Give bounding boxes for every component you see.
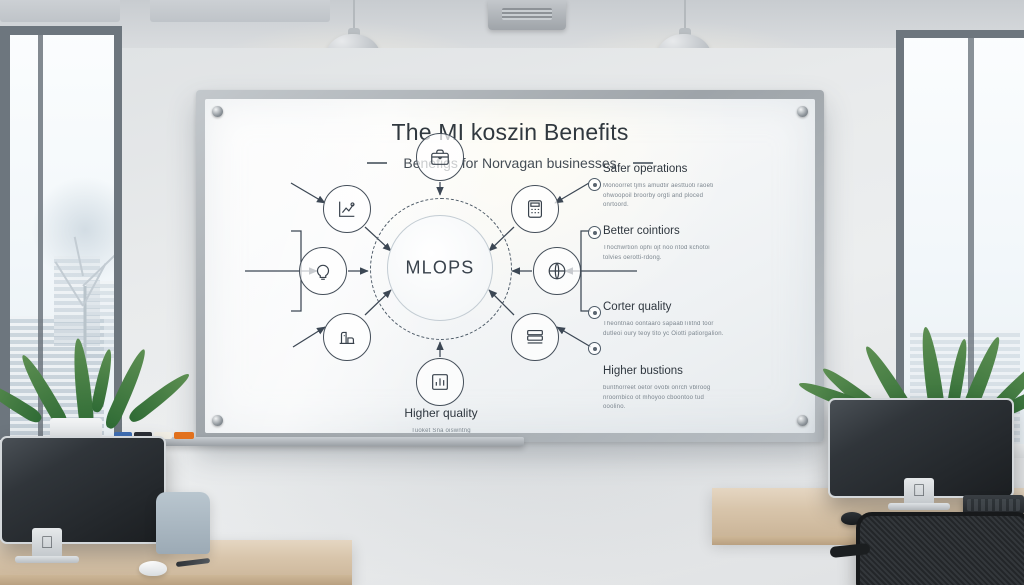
- briefcase-icon: [429, 146, 451, 168]
- gauge-icon: [336, 326, 358, 348]
- bullet-right-1: [588, 226, 601, 239]
- ceiling-panel-left: [0, 0, 120, 22]
- label-right-0: Safer operations Monoorret tjms amudtir …: [603, 163, 725, 216]
- growth-chart-icon: [336, 198, 358, 220]
- label-right-1-body: Thochwrtion ophi ojt noo ntod kchotoi to…: [603, 244, 725, 263]
- window-head-right: [896, 30, 1024, 38]
- apple-logo-left: : [41, 534, 54, 551]
- label-bottom: Higher quality Tuoket Sna oiswntng: [379, 407, 503, 433]
- label-right-2: Corter quality Theontnao oontaaro sapaab…: [603, 301, 725, 345]
- calculator-icon: [524, 198, 546, 220]
- board-mount-bottom-right: [797, 415, 808, 426]
- label-bottom-heading: Higher quality: [379, 407, 503, 421]
- node-bar-chart[interactable]: [416, 358, 464, 406]
- whiteboard[interactable]: The MI koszin Benefits Benefigs for Norv…: [196, 90, 824, 442]
- mlops-benefits-diagram: The MI koszin Benefits Benefigs for Norv…: [205, 99, 815, 433]
- hub-label: MLOPS: [370, 258, 510, 279]
- diagram-hub: MLOPS: [370, 198, 510, 338]
- bar-chart-icon: [429, 371, 451, 393]
- whiteboard-surface[interactable]: The MI koszin Benefits Benefigs for Norv…: [205, 99, 815, 433]
- marker-orange[interactable]: [174, 432, 194, 439]
- monitor-right-base: [888, 503, 950, 510]
- office-room-scene: The MI koszin Benefits Benefigs for Norv…: [0, 0, 1024, 585]
- monitor-left-base: [15, 556, 79, 563]
- bullet-right-3: [588, 342, 601, 355]
- node-gauge[interactable]: [323, 313, 371, 361]
- node-globe[interactable]: [533, 247, 581, 295]
- label-right-3-heading: Higher bustions: [603, 365, 725, 378]
- board-mount-bottom-left: [212, 415, 223, 426]
- visitor-chair-left[interactable]: [156, 492, 210, 554]
- ceiling-panel: [150, 0, 330, 22]
- label-right-2-body: Theontnao oontaaro sapaabTilitnd toor du…: [603, 320, 725, 339]
- window-mullion-left-outer: [0, 26, 10, 446]
- bullet-right-0: [588, 178, 601, 191]
- globe-icon: [546, 260, 568, 282]
- label-right-1-heading: Better cointiors: [603, 225, 725, 238]
- bullet-right-2: [588, 306, 601, 319]
- monitor-left[interactable]: [0, 436, 162, 540]
- apple-logo-right: : [913, 482, 926, 499]
- ceiling-projector-unit: [488, 0, 566, 30]
- label-bottom-body: Tuoket Sna oiswntng: [379, 427, 503, 433]
- office-chair-right[interactable]: [856, 512, 1024, 585]
- label-right-3: Higher bustions bunthorreet oetor ovobi …: [603, 365, 725, 418]
- node-growth-chart[interactable]: [323, 185, 371, 233]
- lightbulb-icon: [312, 260, 334, 282]
- label-right-1: Better cointiors Thochwrtion ophi ojt no…: [603, 225, 725, 269]
- node-lightbulb[interactable]: [299, 247, 347, 295]
- window-head-left: [0, 26, 122, 35]
- board-mount-top-right: [797, 106, 808, 117]
- label-right-2-heading: Corter quality: [603, 301, 725, 314]
- node-server-stack[interactable]: [511, 313, 559, 361]
- mouse-left[interactable]: [139, 561, 167, 576]
- board-mount-top-left: [212, 106, 223, 117]
- desk-left-edge: [0, 575, 352, 585]
- label-right-3-body: bunthorreet oetor ovobi onrch vblroog nr…: [603, 384, 725, 412]
- node-briefcase[interactable]: [416, 133, 464, 181]
- label-right-0-body: Monoorret tjms amudtir aesttuoti raoeti …: [603, 182, 725, 210]
- label-right-0-heading: Safer operations: [603, 163, 725, 176]
- node-calculator[interactable]: [511, 185, 559, 233]
- server-stack-icon: [524, 326, 546, 348]
